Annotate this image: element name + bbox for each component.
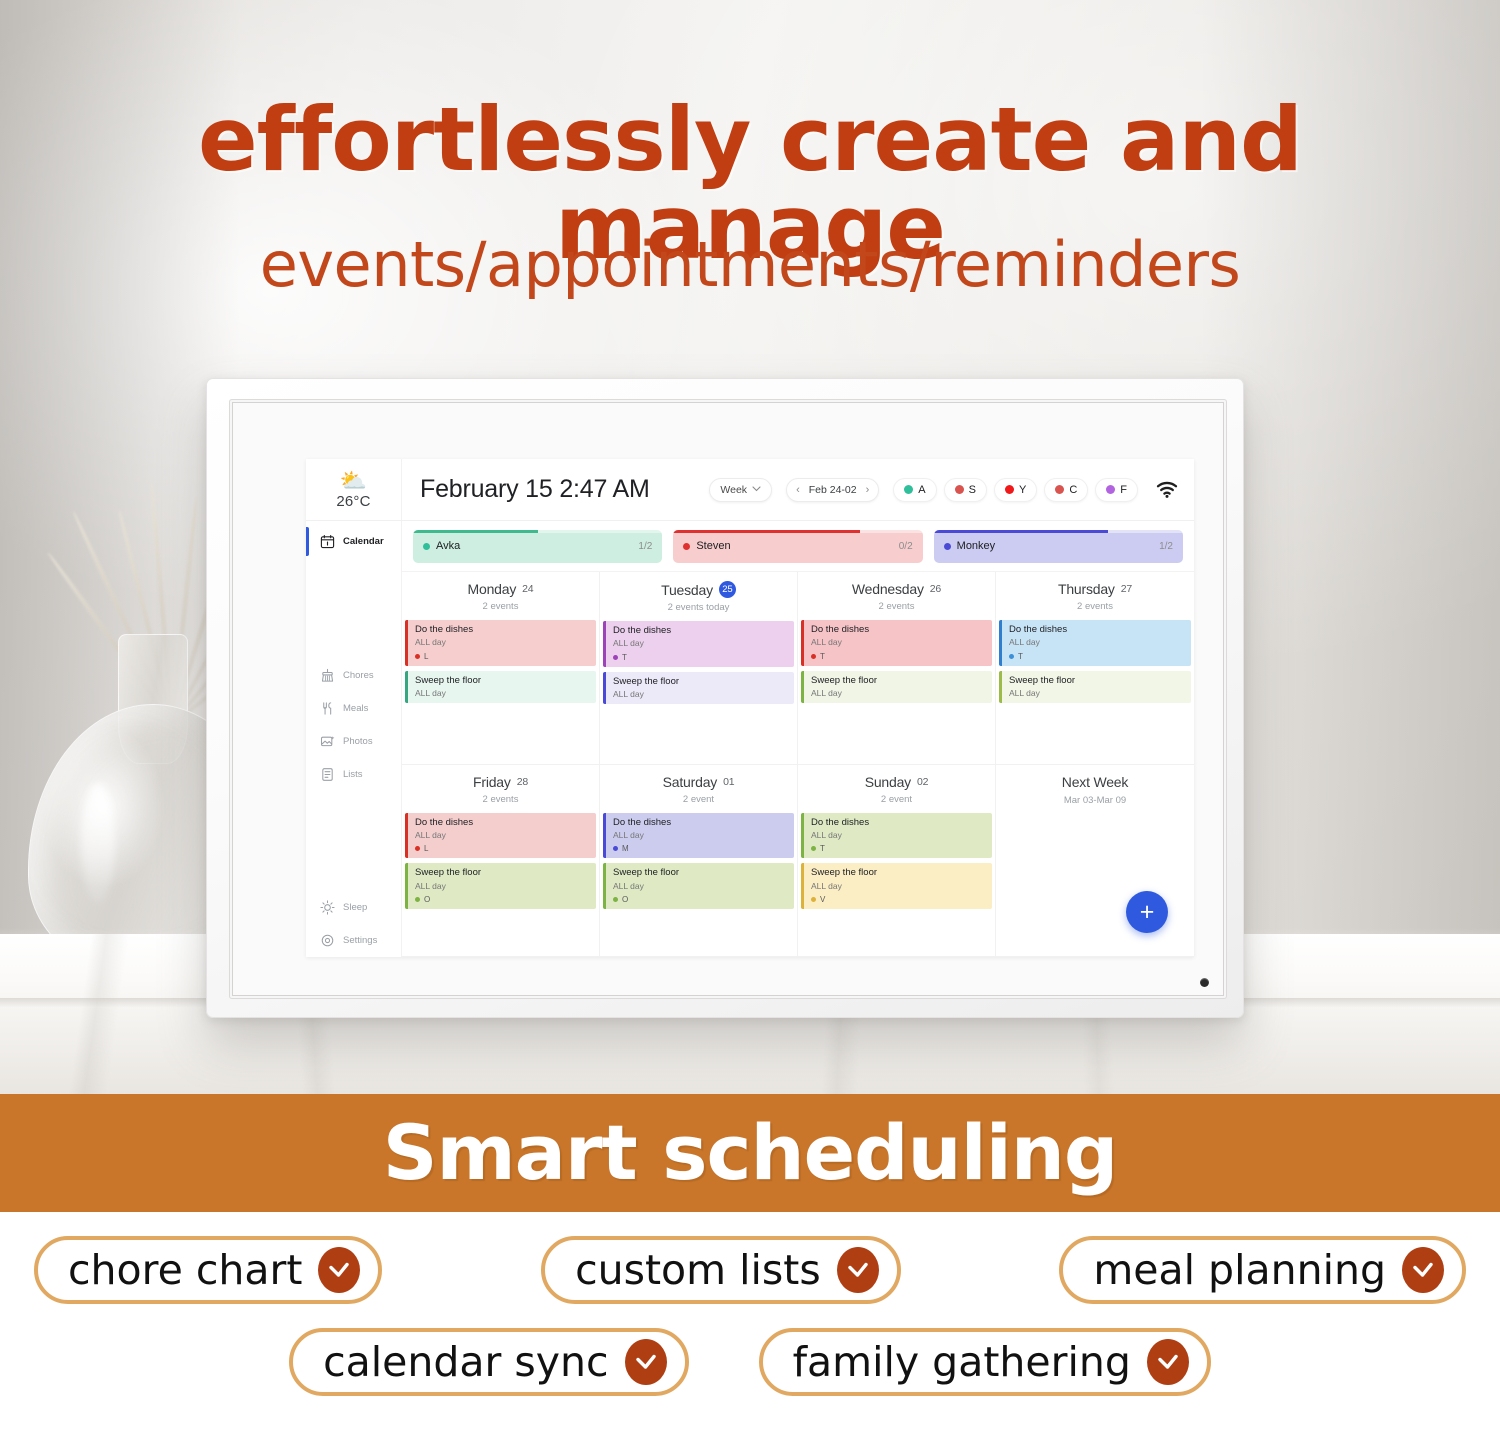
owner-initial: L — [424, 652, 428, 661]
day-name: Sunday — [865, 774, 911, 790]
gear-icon — [320, 933, 335, 948]
event-owner: M — [613, 844, 788, 853]
camera-sensor-dot — [1200, 978, 1209, 987]
owner-initial: M — [622, 844, 629, 853]
progress-name-group: Steven — [683, 540, 730, 552]
event-card[interactable]: Do the dishesALL dayL — [405, 620, 596, 666]
event-title: Sweep the floor — [811, 676, 986, 686]
next-week-title: Next Week — [1062, 774, 1128, 790]
owner-initial: O — [424, 895, 430, 904]
day-event-count: 2 event — [604, 794, 793, 805]
next-week-button[interactable]: › — [866, 484, 870, 496]
chevron-down-icon — [752, 485, 761, 494]
feature-row-top: chore chartcustom listsmeal planning — [34, 1236, 1466, 1304]
day-title: Monday24 — [468, 581, 534, 597]
device-screen: ⛅ 26°C February 15 2:47 AM Week ‹ Feb — [229, 399, 1227, 999]
feature-badge-meal-planning: meal planning — [1059, 1236, 1466, 1304]
event-card[interactable]: Sweep the floorALL day — [999, 671, 1191, 703]
event-owner: T — [613, 653, 788, 662]
member-initial: Y — [1019, 484, 1026, 496]
owner-color-dot — [613, 846, 618, 851]
event-title: Sweep the floor — [811, 868, 986, 878]
event-card[interactable]: Do the dishesALL dayT — [801, 620, 992, 666]
event-title: Do the dishes — [811, 818, 986, 828]
event-time: ALL day — [1009, 638, 1185, 647]
list-icon — [320, 767, 335, 782]
progress-fill — [673, 530, 860, 533]
check-icon — [1402, 1247, 1444, 1293]
event-time: ALL day — [1009, 689, 1185, 698]
feature-label: calendar sync — [323, 1342, 608, 1383]
event-title: Do the dishes — [1009, 625, 1185, 635]
member-chip-a[interactable]: A — [893, 478, 936, 502]
app-topbar: ⛅ 26°C February 15 2:47 AM Week ‹ Feb — [306, 459, 1194, 521]
event-title: Sweep the floor — [613, 868, 788, 878]
event-owner: T — [1009, 652, 1185, 661]
event-owner: O — [415, 895, 590, 904]
date-range-nav: ‹ Feb 24-02 › — [786, 478, 879, 502]
event-title: Do the dishes — [415, 625, 590, 635]
event-title: Sweep the floor — [1009, 676, 1185, 686]
owner-initial: O — [622, 895, 628, 904]
sidebar-item-label: Lists — [343, 769, 363, 780]
weather-widget[interactable]: ⛅ 26°C — [306, 459, 402, 520]
event-time: ALL day — [613, 639, 788, 648]
day-events: Do the dishesALL dayTSweep the floorALL … — [798, 809, 995, 957]
day-number: 28 — [517, 776, 528, 788]
day-events: Do the dishesALL dayLSweep the floorALL … — [402, 809, 599, 957]
event-title: Sweep the floor — [613, 677, 788, 687]
day-event-count: 2 events today — [604, 602, 793, 613]
event-card[interactable]: Do the dishesALL dayT — [603, 621, 794, 667]
event-title: Sweep the floor — [415, 676, 590, 686]
broom-icon — [320, 668, 335, 683]
calendar-main: Avka1/2Steven0/2Monkey1/2 Monday242 even… — [402, 521, 1194, 957]
prev-week-button[interactable]: ‹ — [796, 484, 800, 496]
member-color-dot — [423, 543, 430, 550]
event-time: ALL day — [613, 831, 788, 840]
day-title: Sunday02 — [865, 774, 929, 790]
feature-badge-calendar-sync: calendar sync — [289, 1328, 688, 1396]
feature-label: custom lists — [575, 1250, 821, 1291]
member-color-dot — [1055, 485, 1064, 494]
day-column-tuesday[interactable]: Tuesday252 events todayDo the dishesALL … — [600, 572, 798, 765]
member-chip-c[interactable]: C — [1044, 478, 1088, 502]
event-card[interactable]: Sweep the floorALL dayO — [603, 863, 794, 909]
event-card[interactable]: Sweep the floorALL dayO — [405, 863, 596, 909]
day-number: 01 — [723, 776, 734, 788]
day-column-saturday[interactable]: Saturday012 eventDo the dishesALL dayMSw… — [600, 765, 798, 958]
feature-label: family gathering — [793, 1342, 1131, 1383]
promo-band-title: Smart scheduling — [383, 1115, 1118, 1191]
member-initial: C — [1069, 484, 1077, 496]
sidebar-item-label: Settings — [343, 935, 377, 946]
feature-label: chore chart — [68, 1250, 302, 1291]
member-initial: S — [969, 484, 976, 496]
promo-band: Smart scheduling — [0, 1094, 1500, 1212]
day-column-monday[interactable]: Monday242 eventsDo the dishesALL dayLSwe… — [402, 572, 600, 765]
progress-fill — [934, 530, 1109, 533]
day-title: Thursday27 — [1058, 581, 1132, 597]
event-card[interactable]: Sweep the floorALL day — [603, 672, 794, 704]
event-title: Do the dishes — [415, 818, 590, 828]
owner-color-dot — [415, 897, 420, 902]
day-events: Do the dishesALL dayTSweep the floorALL … — [996, 616, 1194, 764]
member-chip-y[interactable]: Y — [994, 478, 1037, 502]
feature-badge-family-gathering: family gathering — [759, 1328, 1211, 1396]
member-color-dot — [1106, 485, 1115, 494]
feature-badges-section: chore chartcustom listsmeal planning cal… — [0, 1212, 1500, 1449]
day-name: Tuesday — [661, 582, 713, 598]
progress-count: 1/2 — [638, 541, 652, 552]
topbar-content: February 15 2:47 AM Week ‹ Feb 24-02 › A… — [402, 459, 1194, 520]
next-week-column[interactable]: Next WeekMar 03-Mar 09 — [996, 765, 1194, 958]
progress-member-name: Avka — [436, 540, 460, 552]
feature-badge-custom-lists: custom lists — [541, 1236, 901, 1304]
owner-color-dot — [415, 654, 420, 659]
owner-initial: T — [622, 653, 627, 662]
member-color-dot — [683, 543, 690, 550]
progress-card-avka[interactable]: Avka1/2 — [413, 530, 662, 563]
sidebar-item-lists[interactable]: Lists — [306, 758, 401, 791]
member-progress-row: Avka1/2Steven0/2Monkey1/2 — [402, 521, 1194, 571]
owner-color-dot — [811, 897, 816, 902]
view-selector-label: Week — [720, 484, 747, 496]
member-chip-s[interactable]: S — [944, 478, 987, 502]
sun-icon — [320, 900, 335, 915]
owner-color-dot — [613, 897, 618, 902]
day-column-sunday[interactable]: Sunday022 eventDo the dishesALL dayTSwee… — [798, 765, 996, 958]
progress-card-steven[interactable]: Steven0/2 — [673, 530, 922, 563]
sidebar-item-photos[interactable]: Photos — [306, 725, 401, 758]
add-event-button[interactable]: + — [1126, 891, 1168, 933]
day-events: Do the dishesALL dayTSweep the floorALL … — [798, 616, 995, 764]
member-color-dot — [1005, 485, 1014, 494]
owner-initial: T — [1018, 652, 1023, 661]
event-owner: O — [613, 895, 788, 904]
feature-badge-chore-chart: chore chart — [34, 1236, 382, 1304]
event-time: ALL day — [415, 882, 590, 891]
day-event-count: 2 events — [406, 601, 595, 612]
sidebar-item-calendar[interactable]: Calendar — [306, 525, 401, 558]
wifi-icon[interactable] — [1156, 481, 1178, 499]
event-owner: T — [811, 652, 986, 661]
day-name: Monday — [468, 581, 517, 597]
datetime-display: February 15 2:47 AM — [420, 475, 650, 504]
feature-row-bottom: calendar syncfamily gathering — [34, 1328, 1466, 1396]
event-title: Do the dishes — [613, 818, 788, 828]
day-event-count: 2 events — [406, 794, 595, 805]
cutlery-icon — [320, 701, 335, 716]
app-body: Calendar Chores Meals — [306, 521, 1194, 957]
day-title: Friday28 — [473, 774, 528, 790]
owner-color-dot — [613, 655, 618, 660]
smart-display-device: ⛅ 26°C February 15 2:47 AM Week ‹ Feb — [206, 378, 1244, 1018]
event-title: Do the dishes — [613, 626, 788, 636]
partly-sunny-icon: ⛅ — [340, 470, 367, 492]
sidebar-item-label: Meals — [343, 703, 368, 714]
day-event-count: 2 events — [802, 601, 991, 612]
photo-icon — [320, 734, 335, 749]
day-header: Saturday012 event — [600, 765, 797, 809]
sidebar-item-chores[interactable]: Chores — [306, 659, 401, 692]
weather-temperature: 26°C — [336, 493, 370, 510]
owner-color-dot — [415, 846, 420, 851]
next-week-range: Mar 03-Mar 09 — [1000, 795, 1190, 806]
event-time: ALL day — [613, 690, 788, 699]
day-name: Friday — [473, 774, 511, 790]
progress-count: 1/2 — [1159, 541, 1173, 552]
event-owner: L — [415, 844, 590, 853]
calendar-icon — [320, 534, 335, 549]
owner-initial: T — [820, 652, 825, 661]
feature-label: meal planning — [1093, 1250, 1386, 1291]
sidebar-item-label: Calendar — [343, 536, 384, 547]
owner-color-dot — [1009, 654, 1014, 659]
event-time: ALL day — [415, 689, 590, 698]
check-icon — [837, 1247, 879, 1293]
app-sidebar: Calendar Chores Meals — [306, 521, 402, 957]
vase-highlight — [81, 783, 115, 903]
event-time: ALL day — [811, 882, 986, 891]
calendar-app: ⛅ 26°C February 15 2:47 AM Week ‹ Feb — [306, 459, 1194, 957]
day-title: Saturday01 — [663, 774, 735, 790]
progress-member-name: Steven — [696, 540, 730, 552]
event-title: Do the dishes — [811, 625, 986, 635]
event-time: ALL day — [811, 831, 986, 840]
event-owner: L — [415, 652, 590, 661]
event-time: ALL day — [415, 638, 590, 647]
event-card[interactable]: Sweep the floorALL day — [801, 671, 992, 703]
event-card[interactable]: Do the dishesALL dayT — [801, 813, 992, 859]
day-events: Do the dishesALL dayLSweep the floorALL … — [402, 616, 599, 764]
day-header: Tuesday252 events today — [600, 572, 797, 617]
day-column-thursday[interactable]: Thursday272 eventsDo the dishesALL dayTS… — [996, 572, 1194, 765]
week-grid: Monday242 eventsDo the dishesALL dayLSwe… — [402, 571, 1194, 957]
day-column-wednesday[interactable]: Wednesday262 eventsDo the dishesALL dayT… — [798, 572, 996, 765]
day-number: 26 — [930, 583, 941, 595]
event-time: ALL day — [613, 882, 788, 891]
view-selector-dropdown[interactable]: Week — [709, 478, 772, 502]
event-owner: V — [811, 895, 986, 904]
day-events: Do the dishesALL dayTSweep the floorALL … — [600, 617, 797, 764]
day-number: 02 — [917, 776, 928, 788]
member-chip-f[interactable]: F — [1095, 478, 1138, 502]
member-color-dot — [944, 543, 951, 550]
check-icon — [1147, 1339, 1189, 1385]
owner-initial: T — [820, 844, 825, 853]
day-event-count: 2 event — [802, 794, 991, 805]
sidebar-item-label: Sleep — [343, 902, 367, 913]
day-header: Friday282 events — [402, 765, 599, 809]
date-range-label: Feb 24-02 — [809, 484, 857, 496]
progress-fill — [413, 530, 538, 533]
member-color-dot — [955, 485, 964, 494]
progress-card-monkey[interactable]: Monkey1/2 — [934, 530, 1183, 563]
event-card[interactable]: Sweep the floorALL dayV — [801, 863, 992, 909]
event-card[interactable]: Do the dishesALL dayT — [999, 620, 1191, 666]
day-event-count: 2 events — [1000, 601, 1190, 612]
sidebar-item-label: Photos — [343, 736, 373, 747]
member-initial: A — [918, 484, 925, 496]
event-card[interactable]: Do the dishesALL dayL — [405, 813, 596, 859]
owner-initial: L — [424, 844, 428, 853]
member-initial: F — [1120, 484, 1127, 496]
day-number: 27 — [1121, 583, 1132, 595]
day-title: Tuesday25 — [661, 581, 736, 598]
owner-initial: V — [820, 895, 825, 904]
check-icon — [625, 1339, 667, 1385]
sidebar-item-label: Chores — [343, 670, 374, 681]
progress-name-group: Avka — [423, 540, 460, 552]
day-name: Wednesday — [852, 581, 924, 597]
day-name: Thursday — [1058, 581, 1115, 597]
owner-color-dot — [811, 654, 816, 659]
progress-name-group: Monkey — [944, 540, 996, 552]
event-card[interactable]: Do the dishesALL dayM — [603, 813, 794, 859]
day-header: Thursday272 events — [996, 572, 1194, 616]
day-number: 24 — [522, 583, 533, 595]
sidebar-item-meals[interactable]: Meals — [306, 692, 401, 725]
day-events: Do the dishesALL dayMSweep the floorALL … — [600, 809, 797, 957]
event-title: Sweep the floor — [415, 868, 590, 878]
day-title: Wednesday26 — [852, 581, 941, 597]
headline-secondary: events/appointments/reminders — [0, 234, 1500, 296]
day-header: Sunday022 event — [798, 765, 995, 809]
day-header: Wednesday262 events — [798, 572, 995, 616]
sidebar-item-sleep[interactable]: Sleep — [306, 891, 401, 924]
day-number: 25 — [719, 581, 736, 598]
progress-member-name: Monkey — [957, 540, 996, 552]
next-week-header: Next WeekMar 03-Mar 09 — [996, 765, 1194, 810]
event-time: ALL day — [811, 689, 986, 698]
member-color-dot — [904, 485, 913, 494]
progress-count: 0/2 — [899, 541, 913, 552]
event-card[interactable]: Sweep the floorALL day — [405, 671, 596, 703]
event-time: ALL day — [415, 831, 590, 840]
check-icon — [318, 1247, 360, 1293]
event-time: ALL day — [811, 638, 986, 647]
sidebar-item-settings[interactable]: Settings — [306, 924, 401, 957]
day-header: Monday242 events — [402, 572, 599, 616]
day-name: Saturday — [663, 774, 717, 790]
member-chip-list: ASYCF — [893, 478, 1138, 502]
event-owner: T — [811, 844, 986, 853]
owner-color-dot — [811, 846, 816, 851]
day-column-friday[interactable]: Friday282 eventsDo the dishesALL dayLSwe… — [402, 765, 600, 958]
